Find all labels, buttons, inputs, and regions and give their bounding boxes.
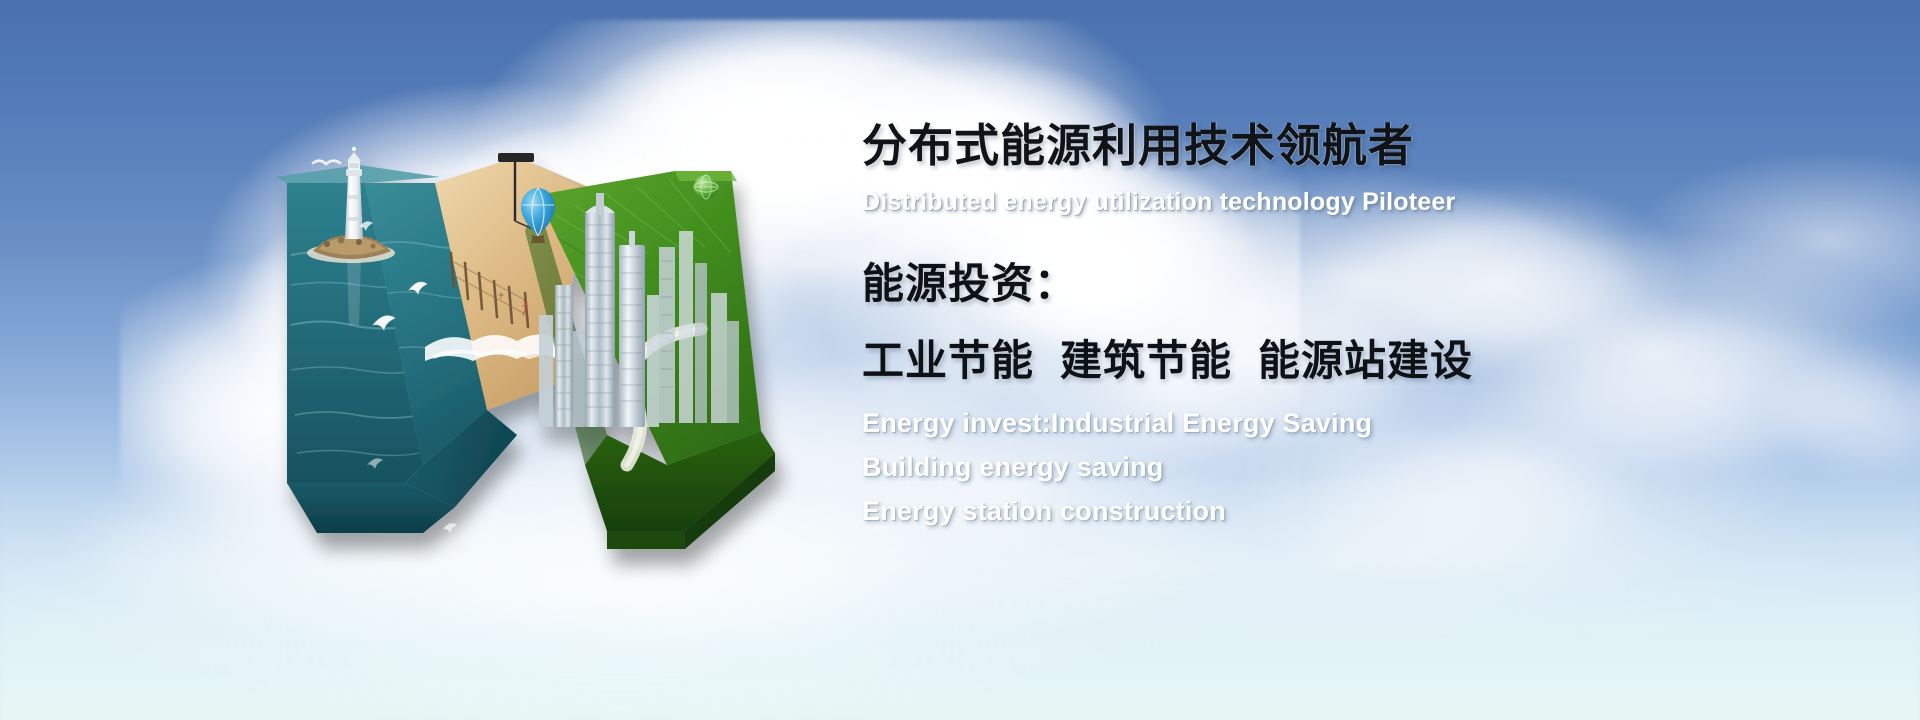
banner-service-line-2-en: Building energy saving bbox=[862, 452, 1872, 483]
banner-subheadline-en: Distributed energy utilization technolog… bbox=[862, 188, 1872, 217]
banner-section-label-cn: 能源投资： bbox=[862, 250, 1872, 311]
hero-banner: 分布式能源利用技术领航者 Distributed energy utilizat… bbox=[0, 0, 1920, 720]
service-item-building-cn: 建筑节能 bbox=[1060, 337, 1232, 384]
banner-copy: 分布式能源利用技术领航者 Distributed energy utilizat… bbox=[862, 122, 1872, 527]
banner-service-line-1-en: Energy invest:Industrial Energy Saving bbox=[862, 408, 1872, 439]
banner-headline-cn: 分布式能源利用技术领航者 bbox=[862, 122, 1872, 171]
service-item-station-cn: 能源站建设 bbox=[1258, 337, 1473, 384]
banner-services-cn: 工业节能建筑节能能源站建设 bbox=[862, 327, 1872, 388]
service-item-industrial-cn: 工业节能 bbox=[862, 337, 1034, 384]
banner-service-line-3-en: Energy station construction bbox=[862, 496, 1872, 527]
w-logo-artwork bbox=[255, 135, 825, 555]
